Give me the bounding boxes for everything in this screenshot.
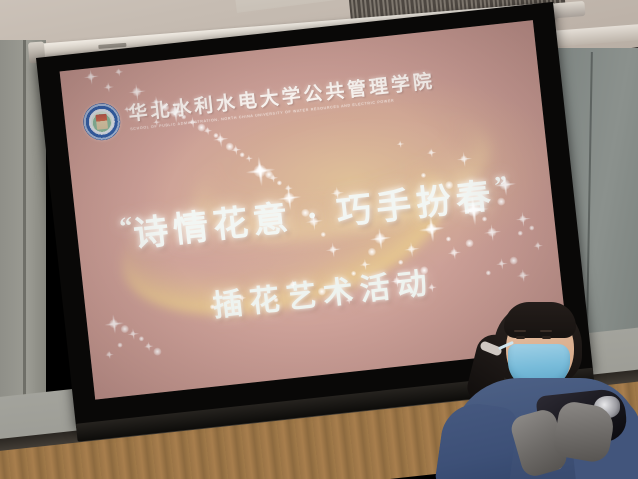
eyebrow-left: [514, 330, 526, 332]
sparkle-star: [90, 76, 91, 77]
sparkle-dot: [529, 225, 535, 231]
sparkle-star: [453, 252, 454, 253]
sparkle-dot: [465, 239, 474, 248]
school-name-cn: 华北水利水电大学公共管理学院: [128, 72, 436, 124]
sparkle-star: [148, 346, 149, 347]
quote-close: ”: [493, 170, 509, 200]
sparkle-star: [491, 232, 492, 233]
sparkle-star: [220, 139, 221, 140]
photo-scene: 华北水利水电大学公共管理学院 SCHOOL OF PUBLIC ADMINIST…: [0, 0, 638, 479]
sparkle-dot: [446, 236, 452, 242]
presenter: [432, 300, 638, 479]
sparkle-dot: [153, 347, 162, 356]
arm-left: [434, 399, 519, 479]
university-emblem-icon: [81, 101, 122, 142]
eye-right: [542, 336, 551, 339]
emblem-glyph: [95, 113, 108, 129]
hair-top: [504, 302, 576, 338]
sparkle-star: [522, 218, 523, 219]
sparkle-dot: [518, 230, 524, 236]
sparkle-dot: [117, 342, 123, 348]
sparkle-star: [107, 86, 108, 87]
sparkle-star: [118, 71, 119, 72]
eyebrow-right: [540, 330, 552, 332]
sparkle-dot: [139, 336, 145, 342]
sparkle-star: [108, 354, 109, 355]
eye-left: [516, 336, 525, 339]
housing-right-bracket: [552, 1, 585, 19]
